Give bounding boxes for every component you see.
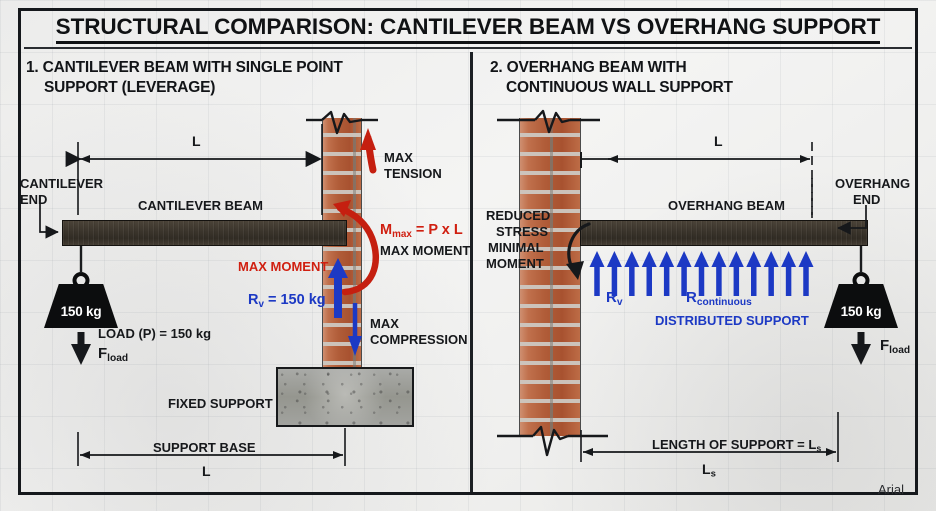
reaction-r-left: R [248, 292, 258, 308]
length-dim-label: Ls [702, 461, 716, 480]
cantilever-end-label-line1: CANTILEVER [20, 176, 103, 192]
r-continuous-sub: continuous [697, 297, 752, 308]
weight-block-right: 150 kg [824, 272, 898, 330]
panel-divider [470, 52, 473, 492]
fixed-support-label: FIXED SUPPORT [168, 396, 273, 412]
max-moment-red-label: MAX MOMENT [238, 259, 328, 275]
diagram-canvas: STRUCTURAL COMPARISON: CANTILEVER BEAM V… [0, 0, 936, 511]
f-load-label-left: Fload [98, 345, 128, 365]
max-compression-line1: MAX [370, 316, 399, 332]
length-of-support-text: LENGTH OF SUPPORT = L [652, 437, 816, 452]
reduced-stress-line2: STRESS [496, 224, 548, 240]
reaction-rest-left: = 150 kg [264, 292, 326, 308]
length-dim-l: L [702, 461, 711, 477]
max-moment-formula: Mmax = P x L [380, 222, 463, 241]
cantilever-beam-label: CANTILEVER BEAM [138, 198, 263, 214]
max-compression-line2: COMPRESSION [370, 332, 468, 348]
left-panel-heading-line1: 1. CANTILEVER BEAM WITH SINGLE POINT [26, 59, 343, 76]
length-of-support-sub: s [816, 443, 821, 453]
load-p-label: LOAD (P) = 150 kg [98, 326, 211, 342]
right-dim-L-label: L [714, 133, 723, 150]
page-title: STRUCTURAL COMPARISON: CANTILEVER BEAM V… [24, 14, 912, 44]
reaction-label-right: Rv [606, 289, 623, 309]
left-panel-heading-line2: SUPPORT (LEVERAGE) [26, 78, 446, 98]
weight-body-right: 150 kg [824, 284, 898, 328]
fixed-support-footing [276, 367, 414, 427]
max-tension-label-line1: MAX [384, 150, 413, 166]
left-dim-L-label: L [192, 133, 201, 150]
weight-block-left: 150 kg [44, 272, 118, 330]
support-base-label: SUPPORT BASE [153, 440, 256, 456]
overhang-beam-label: OVERHANG BEAM [668, 198, 785, 214]
length-dim-sub: s [711, 469, 716, 480]
weight-body-left: 150 kg [44, 284, 118, 328]
brick-stagger-left [323, 137, 361, 370]
brick-wall-right [519, 118, 581, 436]
left-panel-heading: 1. CANTILEVER BEAM WITH SINGLE POINT SUP… [26, 58, 446, 98]
weight-label-right: 150 kg [841, 304, 882, 328]
f-load-sub-left: load [107, 353, 128, 364]
max-moment-caption: MAX MOMENT [380, 243, 470, 259]
distributed-support-label: DISTRIBUTED SUPPORT [655, 313, 809, 329]
f-load-sub-right: load [889, 345, 910, 356]
page-title-text: STRUCTURAL COMPARISON: CANTILEVER BEAM V… [56, 14, 881, 44]
reaction-r-right: R [606, 289, 617, 306]
support-base-dim-label: L [202, 463, 211, 480]
reduced-stress-line1: REDUCED [486, 208, 550, 224]
cantilever-end-label-line2: END [20, 192, 47, 208]
overhang-beam [580, 220, 868, 246]
credit-label: Arial [878, 482, 904, 497]
r-continuous-r: R [686, 289, 697, 306]
brick-stagger-right [520, 137, 580, 436]
length-of-support-label: LENGTH OF SUPPORT = Ls [652, 437, 821, 454]
overhang-end-label-line2: END [853, 192, 880, 208]
reduced-stress-line4: MOMENT [486, 256, 544, 272]
weight-label-left: 150 kg [61, 304, 102, 328]
formula-m: M [380, 222, 392, 238]
max-tension-label-line2: TENSION [384, 166, 442, 182]
r-continuous-label: Rcontinuous [686, 289, 752, 309]
cantilever-beam [62, 220, 347, 246]
formula-m-sub: max [392, 229, 412, 240]
right-panel-heading: 2. OVERHANG BEAM WITH CONTINUOUS WALL SU… [490, 58, 910, 98]
right-panel-heading-line1: 2. OVERHANG BEAM WITH [490, 59, 686, 76]
reduced-stress-line3: MINIMAL [488, 240, 544, 256]
formula-rest: = P x L [412, 222, 463, 238]
title-divider-rule [24, 47, 912, 49]
f-load-label-right: Fload [880, 337, 910, 357]
f-load-f-right: F [880, 337, 889, 354]
reaction-label-left: Rv = 150 kg [248, 292, 326, 311]
reaction-sub-right: v [617, 297, 623, 308]
right-panel-heading-line2: CONTINUOUS WALL SUPPORT [490, 78, 910, 98]
f-load-f-left: F [98, 345, 107, 362]
overhang-end-label-line1: OVERHANG [835, 176, 910, 192]
